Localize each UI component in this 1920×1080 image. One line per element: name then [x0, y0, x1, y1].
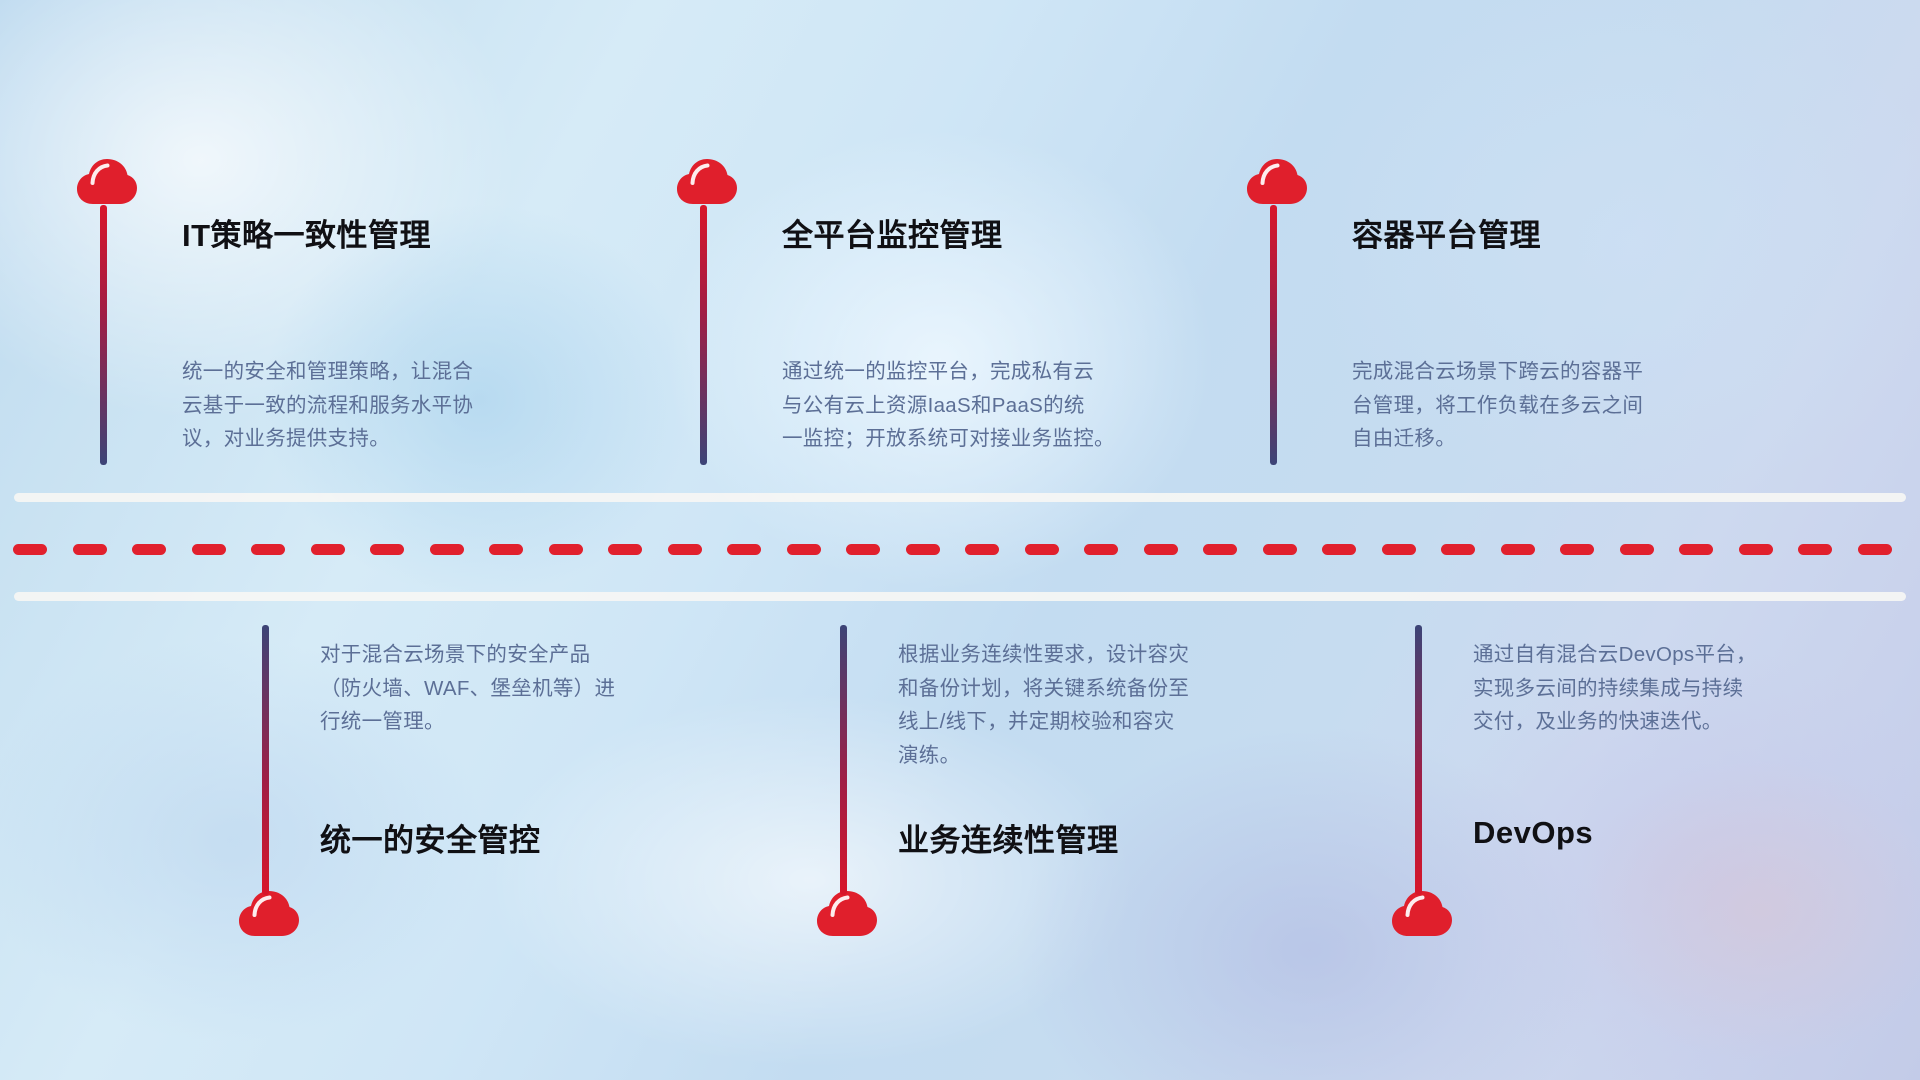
road-dash — [1620, 544, 1654, 555]
description-line: 对于混合云场景下的安全产品 — [320, 638, 615, 672]
road-dash — [846, 544, 880, 555]
card-title: IT策略一致性管理 — [182, 210, 431, 255]
road-dash — [668, 544, 702, 555]
description-line: 演练。 — [898, 739, 1189, 773]
card-description: 统一的安全和管理策略，让混合云基于一致的流程和服务水平协议，对业务提供支持。 — [182, 355, 473, 456]
marker-stem — [1270, 205, 1277, 465]
card-description: 根据业务连续性要求，设计容灾和备份计划，将关键系统备份至线上/线下，并定期校验和… — [898, 638, 1189, 772]
road-dash — [965, 544, 999, 555]
cloud-pin-icon — [1246, 158, 1308, 210]
cloud-pin-icon[interactable] — [816, 890, 878, 942]
cloud-pin-icon[interactable] — [1246, 158, 1308, 210]
description-line: 台管理，将工作负载在多云之间 — [1352, 389, 1643, 423]
road-dash — [608, 544, 642, 555]
road-dash — [1858, 544, 1892, 555]
road-dash — [489, 544, 523, 555]
marker-stem — [840, 625, 847, 895]
description-line: 线上/线下，并定期校验和容灾 — [898, 705, 1189, 739]
road-dash — [787, 544, 821, 555]
cloud-pin-icon[interactable] — [1391, 890, 1453, 942]
road-dash — [13, 544, 47, 555]
description-line: 议，对业务提供支持。 — [182, 422, 473, 456]
card-description: 通过自有混合云DevOps平台，实现多云间的持续集成与持续交付，及业务的快速迭代… — [1473, 638, 1757, 739]
road-dash — [1501, 544, 1535, 555]
description-line: 自由迁移。 — [1352, 422, 1643, 456]
description-line: 行统一管理。 — [320, 705, 615, 739]
road-dash — [1084, 544, 1118, 555]
road-dash — [73, 544, 107, 555]
background-blob — [1180, 0, 1920, 620]
card-title: 业务连续性管理 — [898, 815, 1119, 860]
marker-stem — [1415, 625, 1422, 895]
description-line: 通过统一的监控平台，完成私有云 — [782, 355, 1115, 389]
description-line: 通过自有混合云DevOps平台， — [1473, 638, 1757, 672]
road-dash — [1798, 544, 1832, 555]
description-line: 根据业务连续性要求，设计容灾 — [898, 638, 1189, 672]
cloud-pin-icon[interactable] — [238, 890, 300, 942]
road-dash — [192, 544, 226, 555]
description-line: 交付，及业务的快速迭代。 — [1473, 705, 1757, 739]
cloud-pin-icon — [1391, 890, 1453, 942]
card-title: DevOps — [1473, 815, 1593, 851]
road-dash — [549, 544, 583, 555]
card-description: 完成混合云场景下跨云的容器平台管理，将工作负载在多云之间自由迁移。 — [1352, 355, 1643, 456]
divider-line-bottom — [14, 592, 1906, 601]
card-description: 对于混合云场景下的安全产品（防火墙、WAF、堡垒机等）进行统一管理。 — [320, 638, 615, 739]
road-dash — [1441, 544, 1475, 555]
road-dash — [430, 544, 464, 555]
cloud-pin-icon — [238, 890, 300, 942]
card-title: 容器平台管理 — [1352, 210, 1541, 255]
cloud-pin-icon[interactable] — [76, 158, 138, 210]
road-dash — [906, 544, 940, 555]
background-blob — [1500, 700, 1920, 1080]
road-dash — [132, 544, 166, 555]
road-dash — [1322, 544, 1356, 555]
card-description: 通过统一的监控平台，完成私有云与公有云上资源IaaS和PaaS的统一监控；开放系… — [782, 355, 1115, 456]
card-title: 统一的安全管控 — [320, 815, 541, 860]
cloud-pin-icon — [76, 158, 138, 210]
marker-stem — [262, 625, 269, 895]
marker-stem — [700, 205, 707, 465]
road-dash — [1144, 544, 1178, 555]
description-line: （防火墙、WAF、堡垒机等）进 — [320, 672, 615, 706]
road-dash — [1025, 544, 1059, 555]
divider-line-top — [14, 493, 1906, 502]
description-line: 云基于一致的流程和服务水平协 — [182, 389, 473, 423]
description-line: 统一的安全和管理策略，让混合 — [182, 355, 473, 389]
road-dash — [1382, 544, 1416, 555]
road-dash — [311, 544, 345, 555]
description-line: 完成混合云场景下跨云的容器平 — [1352, 355, 1643, 389]
description-line: 一监控；开放系统可对接业务监控。 — [782, 422, 1115, 456]
description-line: 实现多云间的持续集成与持续 — [1473, 672, 1757, 706]
road-dash — [1739, 544, 1773, 555]
road-dash — [1203, 544, 1237, 555]
road-dash — [727, 544, 761, 555]
road-dash — [1560, 544, 1594, 555]
road-dash — [1263, 544, 1297, 555]
road-dash — [370, 544, 404, 555]
road-dash — [251, 544, 285, 555]
description-line: 和备份计划，将关键系统备份至 — [898, 672, 1189, 706]
description-line: 与公有云上资源IaaS和PaaS的统 — [782, 389, 1115, 423]
road-dash — [1679, 544, 1713, 555]
cloud-pin-icon — [816, 890, 878, 942]
card-title: 全平台监控管理 — [782, 210, 1003, 255]
infographic-canvas: IT策略一致性管理统一的安全和管理策略，让混合云基于一致的流程和服务水平协议，对… — [0, 0, 1920, 1080]
cloud-pin-icon — [676, 158, 738, 210]
marker-stem — [100, 205, 107, 465]
cloud-pin-icon[interactable] — [676, 158, 738, 210]
road-dashed-line — [0, 544, 1920, 555]
